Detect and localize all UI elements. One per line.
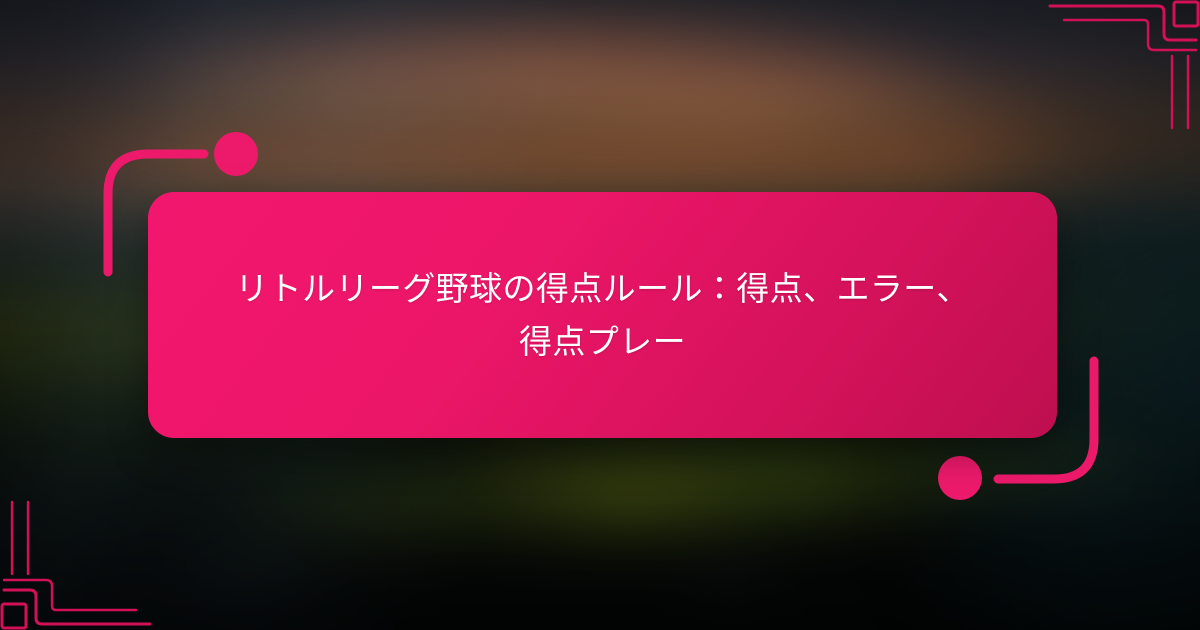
title-card: リトルリーグ野球の得点ルール：得点、エラー、 得点プレー: [148, 192, 1057, 438]
share-card-canvas: リトルリーグ野球の得点ルール：得点、エラー、 得点プレー: [0, 0, 1200, 630]
page-title: リトルリーグ野球の得点ルール：得点、エラー、 得点プレー: [235, 262, 969, 369]
accent-dot-top-left-icon: [214, 132, 258, 176]
accent-dot-bottom-right-icon: [938, 456, 982, 500]
